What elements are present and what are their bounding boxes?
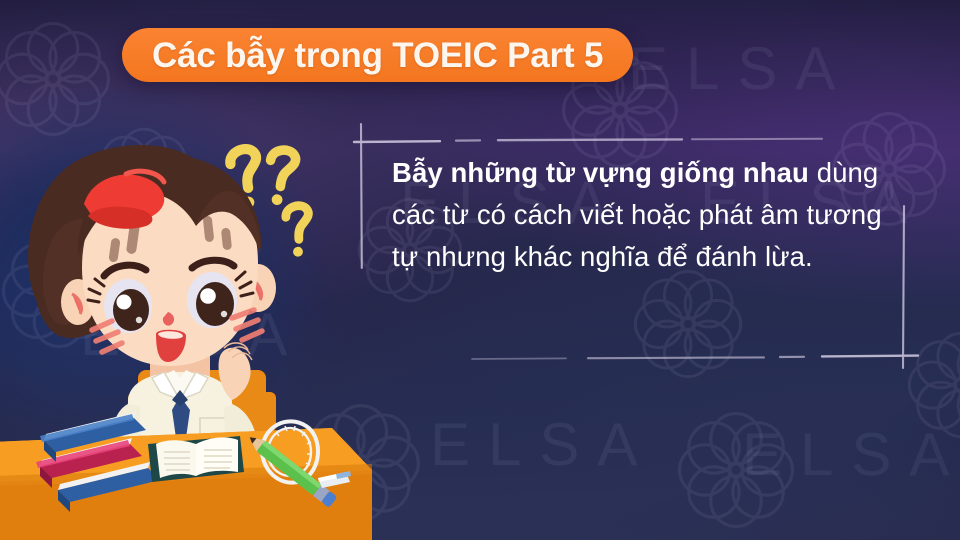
body-text-block: Bẫy những từ vựng giống nhau dùng các từ… bbox=[392, 152, 912, 277]
student-girl-illustration bbox=[0, 0, 372, 540]
body-paragraph: Bẫy những từ vựng giống nhau dùng các từ… bbox=[392, 152, 912, 277]
slide-canvas: ELSAELSAELSAELSAELSAELSA Các bẫy trong T… bbox=[0, 0, 960, 540]
body-bold-phrase: Bẫy những từ vựng giống nhau bbox=[392, 157, 809, 188]
